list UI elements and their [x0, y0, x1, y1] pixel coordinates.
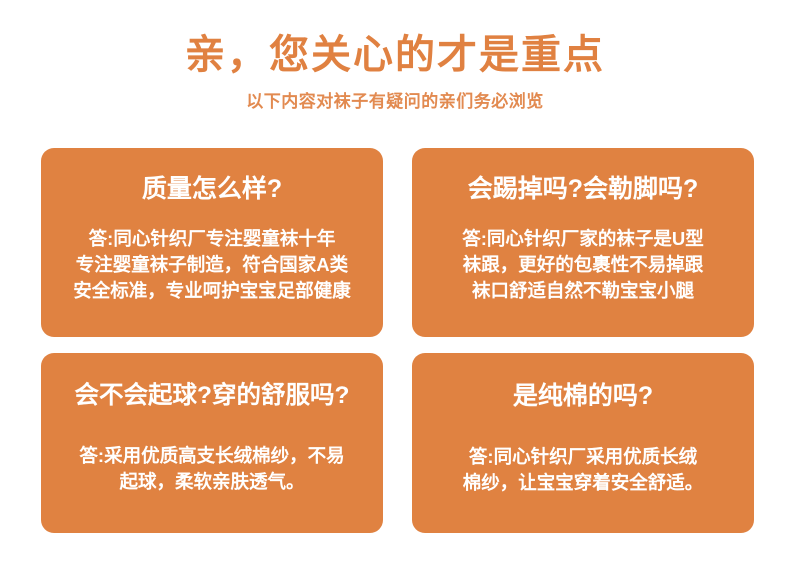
page-title: 亲，您关心的才是重点	[0, 32, 790, 78]
faq-answer-line: 答:采用优质高支长绒棉纱，不易	[79, 443, 344, 469]
faq-answer: 答:采用优质高支长绒棉纱，不易 起球，柔软亲肤透气。	[73, 443, 350, 495]
faq-answer: 答:同心针织厂家的袜子是U型 袜跟，更好的包裹性不易掉跟 袜口舒适自然不勒宝宝小…	[456, 226, 710, 304]
faq-card-cotton: 是纯棉的吗? 答:同心针织厂采用优质长绒 棉纱，让宝宝穿着安全舒适。	[412, 353, 754, 533]
page-header: 亲，您关心的才是重点 以下内容对袜子有疑问的亲们务必浏览	[0, 0, 790, 112]
faq-card-pilling: 会不会起球?穿的舒服吗? 答:采用优质高支长绒棉纱，不易 起球，柔软亲肤透气。	[41, 353, 383, 533]
faq-answer-line: 起球，柔软亲肤透气。	[79, 469, 344, 495]
faq-question: 会不会起球?穿的舒服吗?	[75, 383, 350, 410]
faq-answer-line: 安全标准，专业呵护宝宝足部健康	[73, 278, 351, 304]
faq-answer-line: 答:同心针织厂家的袜子是U型	[462, 226, 704, 252]
faq-answer-line: 答:同心针织厂专注婴童袜十年	[73, 226, 351, 252]
faq-page: 亲，您关心的才是重点 以下内容对袜子有疑问的亲们务必浏览 质量怎么样? 答:同心…	[0, 0, 790, 568]
faq-answer: 答:同心针织厂专注婴童袜十年 专注婴童袜子制造，符合国家A类 安全标准，专业呵护…	[67, 226, 357, 304]
faq-question: 质量怎么样?	[142, 176, 282, 204]
faq-card-grid: 质量怎么样? 答:同心针织厂专注婴童袜十年 专注婴童袜子制造，符合国家A类 安全…	[41, 148, 754, 533]
faq-answer-line: 答:同心针织厂采用优质长绒	[463, 444, 704, 470]
faq-card-fit: 会踢掉吗?会勒脚吗? 答:同心针织厂家的袜子是U型 袜跟，更好的包裹性不易掉跟 …	[412, 148, 754, 337]
faq-answer-line: 专注婴童袜子制造，符合国家A类	[73, 252, 351, 278]
page-subtitle: 以下内容对袜子有疑问的亲们务必浏览	[0, 92, 790, 112]
faq-answer-line: 袜口舒适自然不勒宝宝小腿	[462, 278, 704, 304]
faq-answer-line: 棉纱，让宝宝穿着安全舒适。	[463, 470, 704, 496]
faq-card-quality: 质量怎么样? 答:同心针织厂专注婴童袜十年 专注婴童袜子制造，符合国家A类 安全…	[41, 148, 383, 337]
faq-answer: 答:同心针织厂采用优质长绒 棉纱，让宝宝穿着安全舒适。	[457, 444, 710, 496]
faq-question: 是纯棉的吗?	[513, 383, 653, 411]
faq-question: 会踢掉吗?会勒脚吗?	[468, 176, 699, 204]
faq-answer-line: 袜跟，更好的包裹性不易掉跟	[462, 252, 704, 278]
